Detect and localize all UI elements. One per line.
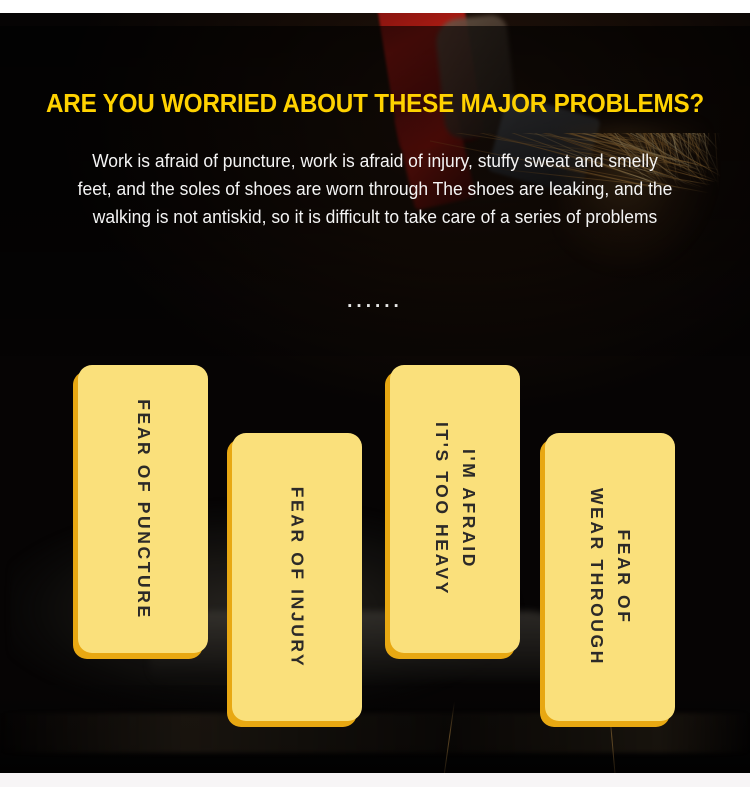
- problem-card-too-heavy: I'M AFRAIDIT'S TOO HEAVY: [390, 365, 520, 653]
- ellipsis-text: ......: [0, 291, 750, 313]
- banner-content: ARE YOU WORRIED ABOUT THESE MAJOR PROBLE…: [0, 13, 750, 773]
- problem-card-injury: FEAR OF INJURY: [232, 433, 362, 721]
- banner-description: Work is afraid of puncture, work is afra…: [75, 147, 674, 231]
- problem-card-label: FEAR OF INJURY: [284, 486, 311, 668]
- page-title: ARE YOU WORRIED ABOUT THESE MAJOR PROBLE…: [19, 90, 732, 119]
- problem-card-label: I'M AFRAIDIT'S TOO HEAVY: [428, 422, 482, 596]
- top-white-strip: [0, 0, 750, 13]
- bottom-white-strip: [0, 773, 750, 787]
- promo-banner-page: ARE YOU WORRIED ABOUT THESE MAJOR PROBLE…: [0, 0, 750, 787]
- problem-card-label: FEAR OFWEAR THROUGH: [583, 488, 637, 666]
- problem-card-puncture: FEAR OF PUNCTURE: [78, 365, 208, 653]
- problem-card-wear-through: FEAR OFWEAR THROUGH: [545, 433, 675, 721]
- problem-card-label: FEAR OF PUNCTURE: [130, 399, 157, 620]
